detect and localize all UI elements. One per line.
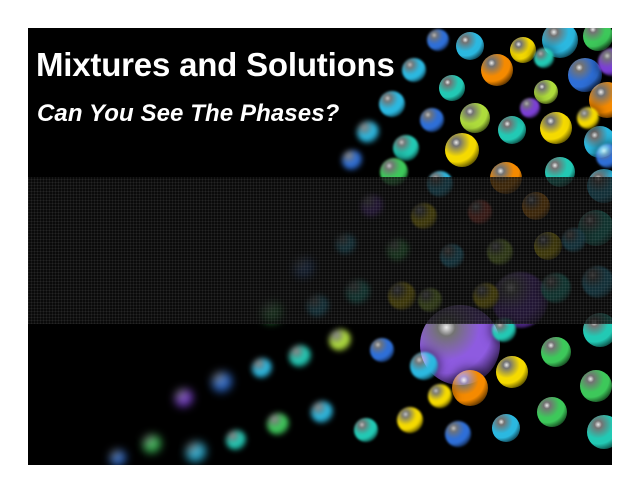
sphere-cyan xyxy=(252,358,272,378)
title-text-group: Mixtures and Solutions Can You See The P… xyxy=(36,28,612,175)
sphere-cyan xyxy=(492,414,520,442)
halftone-texture xyxy=(28,177,612,324)
sphere-blue xyxy=(370,338,394,362)
title-overlay-band xyxy=(28,177,612,324)
sphere-lime xyxy=(329,329,351,351)
sphere-teal xyxy=(289,345,311,367)
sphere-yellow xyxy=(496,356,528,388)
sphere-green xyxy=(143,435,161,453)
sphere-yellow xyxy=(428,384,452,408)
sphere-teal xyxy=(587,415,612,449)
sphere-green xyxy=(580,370,612,402)
sphere-green xyxy=(537,397,567,427)
sphere-purple xyxy=(175,389,193,407)
sphere-blue xyxy=(110,450,126,465)
sphere-green xyxy=(267,413,289,435)
slide-subtitle: Can You See The Phases? xyxy=(37,100,339,128)
sphere-cyan xyxy=(410,352,438,380)
sphere-green xyxy=(541,337,571,367)
sphere-yellow xyxy=(397,407,423,433)
slide-title: Mixtures and Solutions xyxy=(36,46,395,84)
slide-viewport: Mixtures and Solutions Can You See The P… xyxy=(0,0,640,495)
sphere-cyan xyxy=(186,442,206,462)
sphere-blue xyxy=(212,372,232,392)
sphere-teal xyxy=(226,430,246,450)
sphere-cyan xyxy=(311,401,333,423)
sphere-blue xyxy=(445,421,471,447)
presentation-slide: Mixtures and Solutions Can You See The P… xyxy=(28,28,612,465)
sphere-orange xyxy=(452,370,488,406)
sphere-teal xyxy=(354,418,378,442)
